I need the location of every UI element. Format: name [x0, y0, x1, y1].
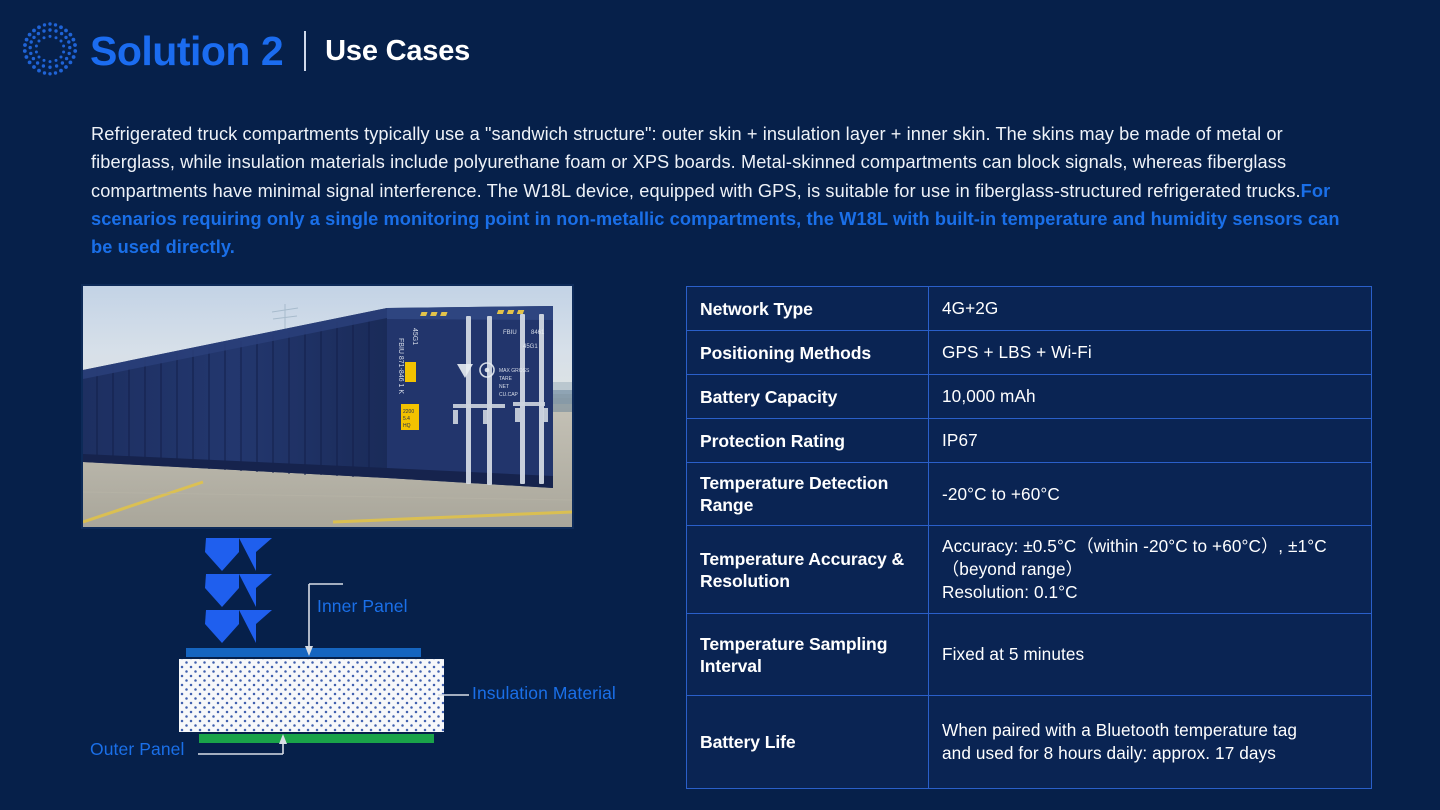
- table-row: Protection Rating IP67: [687, 419, 1372, 463]
- spec-key: Temperature Accuracy & Resolution: [687, 526, 929, 614]
- svg-text:FBIU 871-846 1 K: FBIU 871-846 1 K: [397, 338, 404, 394]
- sandwich-structure-diagram: Inner Panel Insulation Material Outer Pa…: [81, 530, 661, 780]
- table-row: Temperature Sampling Interval Fixed at 5…: [687, 614, 1372, 696]
- spec-value-line: （beyond range）: [942, 558, 1358, 581]
- insulation-material-label: Insulation Material: [472, 683, 616, 704]
- section-title: Use Cases: [325, 37, 470, 66]
- table-row: Temperature Accuracy & Resolution Accura…: [687, 526, 1372, 614]
- title-divider: [304, 31, 306, 71]
- spec-value-line: and used for 8 hours daily: approx. 17 d…: [942, 742, 1358, 765]
- table-row: Positioning Methods GPS + LBS + Wi-Fi: [687, 331, 1372, 375]
- spec-value: 4G+2G: [929, 287, 1372, 331]
- spec-key: Network Type: [687, 287, 929, 331]
- intro-paragraph: Refrigerated truck compartments typicall…: [91, 120, 1363, 261]
- spec-value-line: When paired with a Bluetooth temperature…: [942, 719, 1358, 742]
- spec-value: Fixed at 5 minutes: [929, 614, 1372, 696]
- spec-value-line: Resolution: 0.1°C: [942, 581, 1358, 604]
- inner-panel-label: Inner Panel: [317, 596, 408, 617]
- svg-text:45G1: 45G1: [523, 344, 538, 350]
- table-row: Battery Life When paired with a Bluetoot…: [687, 696, 1372, 789]
- hexagon-dot-logo-icon: [19, 18, 81, 80]
- spec-key: Battery Capacity: [687, 375, 929, 419]
- svg-text:FBIU: FBIU: [503, 330, 517, 336]
- spec-key: Temperature Sampling Interval: [687, 614, 929, 696]
- svg-text:8461: 8461: [531, 330, 545, 336]
- table-row: Network Type 4G+2G: [687, 287, 1372, 331]
- spec-value-line: Accuracy: ±0.5°C（within -20°C to +60°C）,…: [942, 535, 1358, 558]
- spec-value: Accuracy: ±0.5°C（within -20°C to +60°C）,…: [929, 526, 1372, 614]
- shipping-container-photo: 2200 5.4 HQ FBIU 871-846 1 K 45G1 FBIU 8…: [81, 284, 574, 529]
- outer-panel-label: Outer Panel: [90, 739, 185, 760]
- spec-key: Temperature Detection Range: [687, 463, 929, 526]
- specification-table: Network Type 4G+2G Positioning Methods G…: [686, 286, 1372, 789]
- spec-key: Protection Rating: [687, 419, 929, 463]
- spec-value: -20°C to +60°C: [929, 463, 1372, 526]
- table-row: Battery Capacity 10,000 mAh: [687, 375, 1372, 419]
- header-title-row: Solution 2 Use Cases: [90, 22, 470, 80]
- spec-value: 10,000 mAh: [929, 375, 1372, 419]
- svg-text:HQ: HQ: [403, 423, 411, 429]
- svg-text:5.4: 5.4: [403, 416, 410, 422]
- page-title: Solution 2: [90, 31, 283, 72]
- slide-header: Solution 2 Use Cases: [0, 0, 1440, 92]
- intro-paragraph-plain: Refrigerated truck compartments typicall…: [91, 124, 1301, 201]
- slide-canvas: Solution 2 Use Cases Refrigerated truck …: [0, 0, 1440, 810]
- svg-text:2200: 2200: [403, 409, 414, 415]
- svg-text:45G1: 45G1: [411, 328, 418, 345]
- spec-value: GPS + LBS + Wi-Fi: [929, 331, 1372, 375]
- svg-text:TARE: TARE: [499, 376, 513, 382]
- triple-chevron-down-icon: [205, 538, 272, 643]
- spec-value: When paired with a Bluetooth temperature…: [929, 696, 1372, 789]
- spec-key: Positioning Methods: [687, 331, 929, 375]
- svg-text:NET: NET: [499, 384, 509, 390]
- table-row: Temperature Detection Range -20°C to +60…: [687, 463, 1372, 526]
- spec-key: Battery Life: [687, 696, 929, 789]
- spec-value: IP67: [929, 419, 1372, 463]
- svg-text:CU.CAP: CU.CAP: [499, 392, 519, 398]
- svg-text:MAX GROSS: MAX GROSS: [499, 368, 530, 374]
